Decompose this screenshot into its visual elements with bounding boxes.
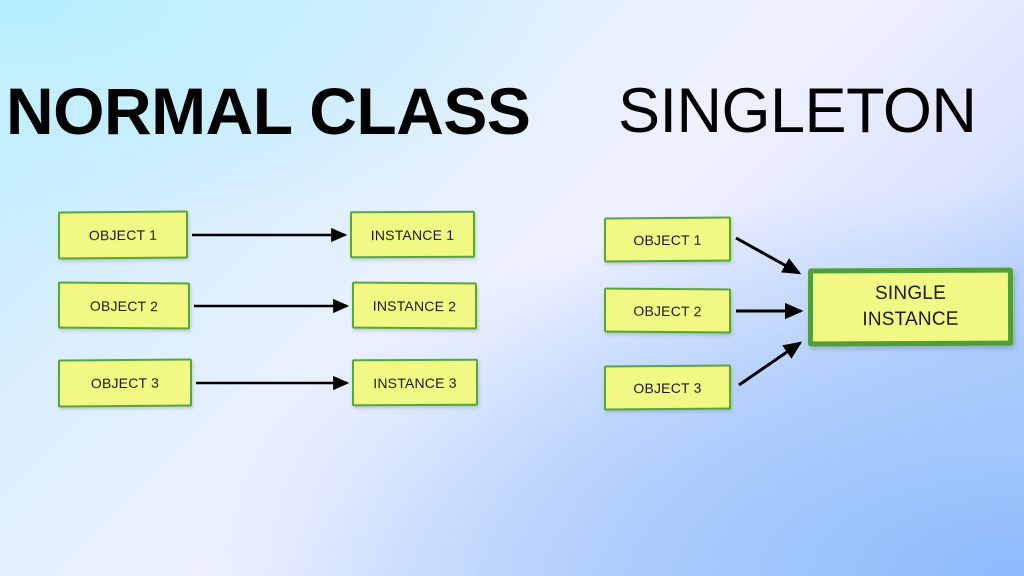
single-instance-line-1: SINGLE (875, 281, 946, 307)
node-instance-1[interactable]: INSTANCE 1 (350, 211, 475, 259)
node-label: OBJECT 2 (633, 302, 701, 318)
node-object-3-singleton[interactable]: OBJECT 3 (604, 365, 731, 411)
node-object-1-singleton[interactable]: OBJECT 1 (604, 217, 731, 263)
node-label: OBJECT 2 (90, 297, 158, 313)
arrow-sobject1-single-instance (736, 238, 799, 273)
node-object-2-normal[interactable]: OBJECT 2 (58, 282, 190, 330)
single-instance-line-2: INSTANCE (862, 307, 958, 333)
node-label: OBJECT 3 (91, 375, 159, 392)
diagram-canvas: NORMAL CLASS SINGLETON OBJECT 1 OBJECT 2… (0, 0, 1024, 576)
node-label: INSTANCE 1 (371, 226, 454, 242)
node-object-1-normal[interactable]: OBJECT 1 (58, 211, 188, 260)
node-object-2-singleton[interactable]: OBJECT 2 (604, 288, 731, 334)
arrow-sobject3-single-instance (739, 343, 800, 385)
normal-class-title: NORMAL CLASS (6, 78, 530, 144)
node-label: OBJECT 3 (633, 379, 701, 396)
node-instance-2[interactable]: INSTANCE 2 (352, 282, 477, 330)
node-single-instance[interactable]: SINGLE INSTANCE (808, 268, 1013, 347)
node-instance-3[interactable]: INSTANCE 3 (352, 359, 478, 407)
singleton-title: SINGLETON (618, 80, 976, 143)
node-label: INSTANCE 2 (373, 297, 456, 314)
node-label: OBJECT 1 (633, 231, 701, 248)
node-label: OBJECT 1 (89, 227, 157, 244)
node-label: INSTANCE 3 (373, 374, 456, 390)
node-object-3-normal[interactable]: OBJECT 3 (58, 358, 192, 407)
